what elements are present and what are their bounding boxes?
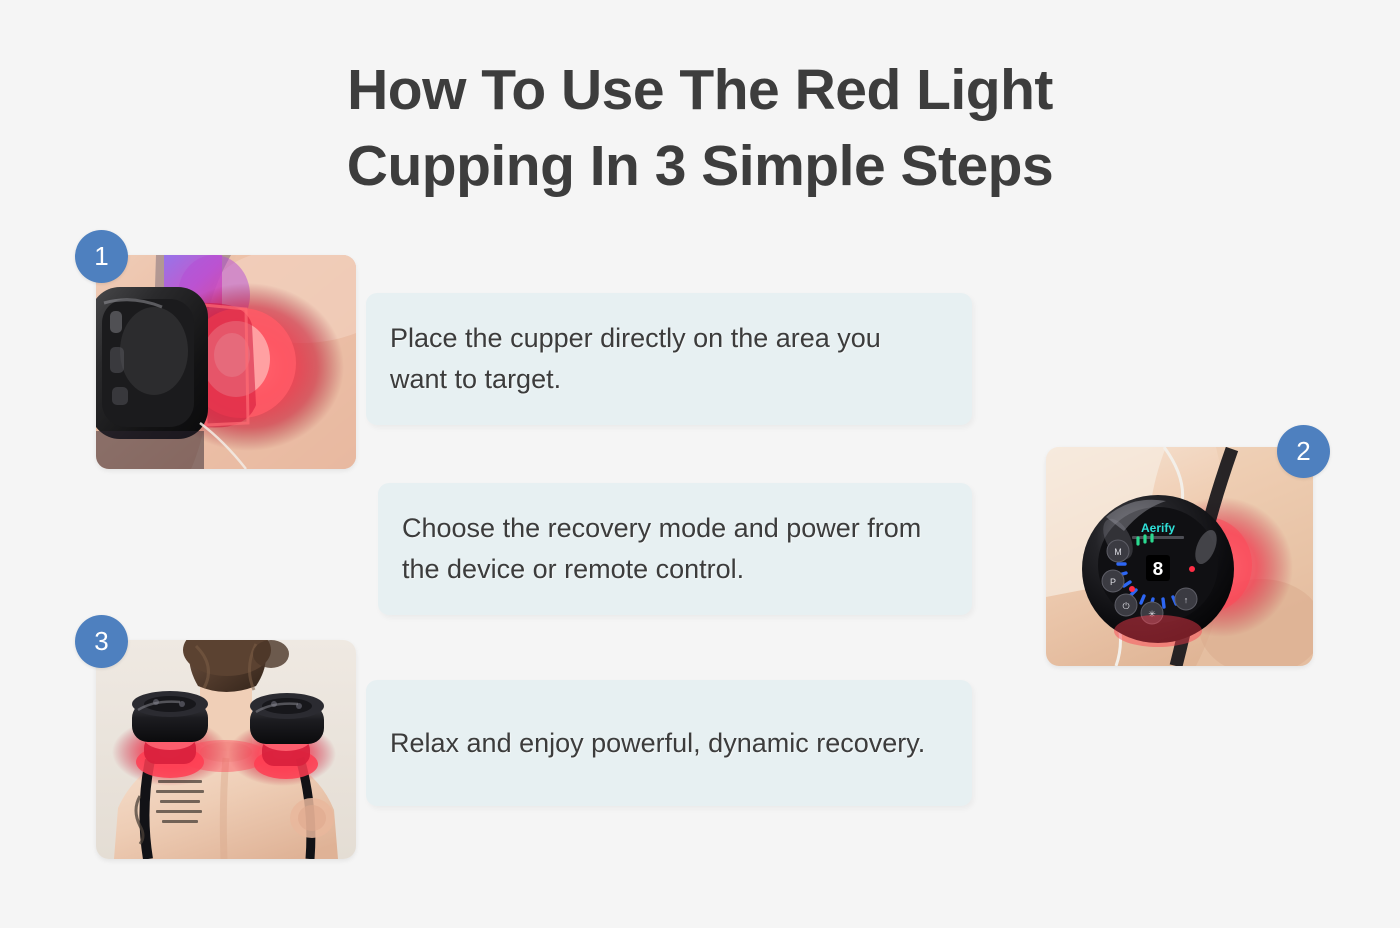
step-badge-2: 2 (1277, 425, 1330, 478)
svg-text:⏻: ⏻ (1122, 601, 1129, 611)
device-brand-label: Aerify (1141, 521, 1175, 535)
step-badge-1-number: 1 (94, 241, 108, 272)
step-image-3 (96, 640, 356, 859)
device-display-value: 8 (1152, 559, 1163, 581)
cupping-closeup-illustration (96, 255, 356, 469)
step-badge-3-number: 3 (94, 626, 108, 657)
step-badge-2-number: 2 (1296, 436, 1310, 467)
step-badge-1: 1 (75, 230, 128, 283)
svg-text:P: P (1110, 577, 1116, 587)
cup-device-left (132, 691, 208, 778)
back-shoulders-cupping-illustration (96, 640, 356, 859)
step-text-1: Place the cupper directly on the area yo… (366, 318, 972, 400)
page-title: How To Use The Red Light Cupping In 3 Si… (0, 52, 1400, 204)
step-text-box-1: Place the cupper directly on the area yo… (366, 293, 972, 425)
svg-text:M: M (1114, 547, 1122, 557)
cup-device-right (250, 693, 324, 779)
device-control-panel-illustration: Aerify 8 (1046, 447, 1313, 666)
infographic-canvas: How To Use The Red Light Cupping In 3 Si… (0, 0, 1400, 928)
page-title-line-2: Cupping In 3 Simple Steps (0, 128, 1400, 204)
step-text-2: Choose the recovery mode and power from … (378, 508, 972, 590)
step-image-2: Aerify 8 (1046, 447, 1313, 666)
step-badge-3: 3 (75, 615, 128, 668)
step-text-3: Relax and enjoy powerful, dynamic recove… (366, 723, 955, 764)
svg-text:↑: ↑ (1184, 595, 1189, 605)
step-image-1 (96, 255, 356, 469)
step-text-box-3: Relax and enjoy powerful, dynamic recove… (366, 680, 972, 806)
page-title-line-1: How To Use The Red Light (0, 52, 1400, 128)
step-text-box-2: Choose the recovery mode and power from … (378, 483, 972, 615)
